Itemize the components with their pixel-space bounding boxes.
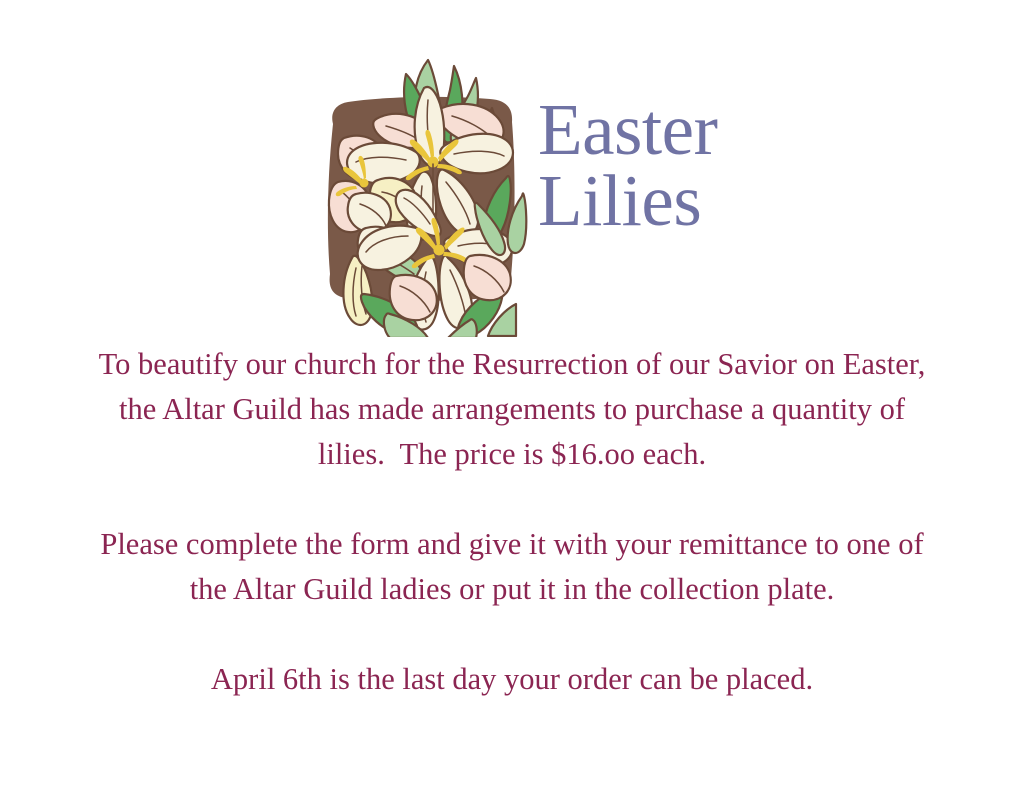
- paragraph-spacer: [47, 612, 977, 657]
- body-copy: To beautify our church for the Resurrect…: [47, 342, 977, 702]
- copy-line: the Altar Guild has made arrangements to…: [47, 387, 977, 432]
- copy-line: lilies. The price is $16.oo each.: [47, 432, 977, 477]
- copy-line: the Altar Guild ladies or put it in the …: [47, 567, 977, 612]
- flyer-page: .ol { stroke:#6b4a38; stroke-width:2.2; …: [0, 0, 1024, 791]
- logo-header: .ol { stroke:#6b4a38; stroke-width:2.2; …: [0, 52, 1024, 342]
- wordmark: Easter Lilies: [538, 96, 753, 234]
- easter-lily-illustration-icon: .ol { stroke:#6b4a38; stroke-width:2.2; …: [320, 52, 535, 337]
- copy-line: To beautify our church for the Resurrect…: [47, 342, 977, 387]
- wordmark-line-lilies: Lilies: [538, 167, 753, 234]
- copy-line: April 6th is the last day your order can…: [47, 657, 977, 702]
- paragraph-instructions: Please complete the form and give it wit…: [47, 522, 977, 612]
- wordmark-line-easter: Easter: [538, 96, 753, 163]
- paragraph-spacer: [47, 477, 977, 522]
- paragraph-intro: To beautify our church for the Resurrect…: [47, 342, 977, 477]
- copy-line: Please complete the form and give it wit…: [47, 522, 977, 567]
- paragraph-deadline: April 6th is the last day your order can…: [47, 657, 977, 702]
